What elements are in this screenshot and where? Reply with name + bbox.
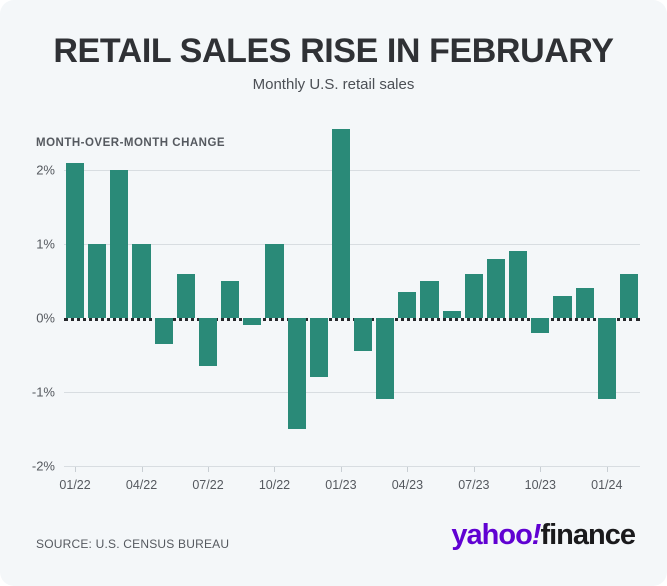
x-axis-tick-label: 07/23 (458, 478, 489, 492)
x-axis-tick-label: 10/22 (259, 478, 290, 492)
y-axis-tick-label: -2% (32, 459, 55, 474)
bar (443, 311, 461, 318)
zero-line (64, 318, 640, 321)
page-subtitle: Monthly U.S. retail sales (0, 76, 667, 93)
y-axis-title: MONTH-OVER-MONTH CHANGE (36, 137, 225, 149)
source-note: SOURCE: U.S. CENSUS BUREAU (36, 537, 229, 551)
chart-card: RETAIL SALES RISE IN FEBRUARY Monthly U.… (0, 0, 667, 586)
bar (177, 274, 195, 318)
bar (354, 318, 372, 351)
bar (465, 274, 483, 318)
bar (598, 318, 616, 399)
bar (310, 318, 328, 377)
bar (531, 318, 549, 333)
bar (132, 244, 150, 318)
bar (155, 318, 173, 344)
bar (199, 318, 217, 366)
x-axis-tick-label: 01/24 (591, 478, 622, 492)
yahoo-finance-logo: yahoo!finance (451, 519, 635, 552)
x-axis-tick-label: 07/22 (192, 478, 223, 492)
x-axis-tick-label: 04/23 (392, 478, 423, 492)
bar (265, 244, 283, 318)
bar (332, 129, 350, 318)
bar (243, 318, 261, 325)
bar (420, 281, 438, 318)
logo-brand-text: yahoo (451, 519, 531, 551)
bar (376, 318, 394, 399)
gridline (64, 392, 640, 393)
bar (576, 288, 594, 318)
y-axis-tick-label: 1% (36, 237, 55, 252)
x-axis-tick-label: 01/23 (325, 478, 356, 492)
plot-area: 2%1%0%-1%-2%01/2204/2207/2210/2201/2304/… (64, 170, 640, 466)
bar (288, 318, 306, 429)
bar (487, 259, 505, 318)
bar (509, 251, 527, 318)
bar (620, 274, 638, 318)
bar (88, 244, 106, 318)
x-axis-tick-label: 01/22 (59, 478, 90, 492)
logo-product-text: finance (540, 519, 635, 551)
bar (110, 170, 128, 318)
x-axis-tick-label: 10/23 (525, 478, 556, 492)
x-axis-line (64, 466, 640, 467)
y-axis-tick-label: 0% (36, 311, 55, 326)
gridline (64, 170, 640, 171)
bar (553, 296, 571, 318)
y-axis-tick-label: -1% (32, 385, 55, 400)
y-axis-tick-label: 2% (36, 163, 55, 178)
bar (221, 281, 239, 318)
bar (398, 292, 416, 318)
x-axis-tick-label: 04/22 (126, 478, 157, 492)
page-title: RETAIL SALES RISE IN FEBRUARY (0, 32, 667, 71)
bar (66, 163, 84, 318)
